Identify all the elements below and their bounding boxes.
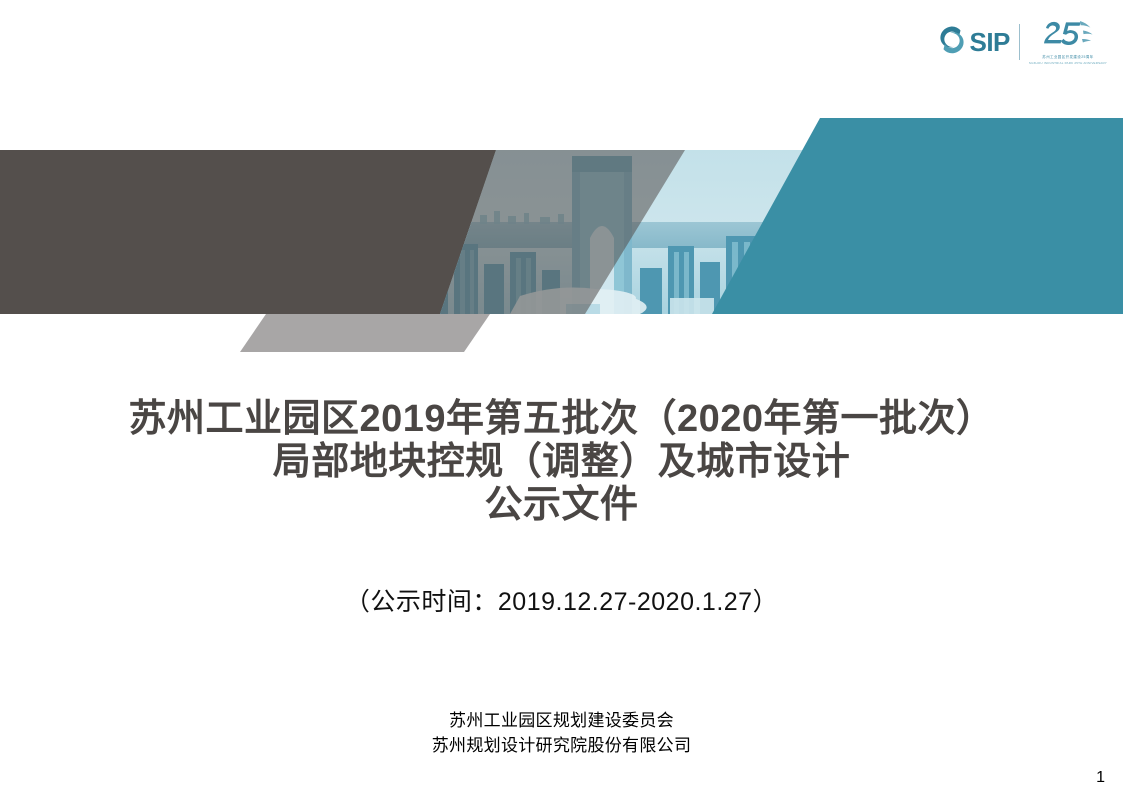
footer-line-1: 苏州工业园区规划建设委员会 [0, 708, 1123, 733]
page-number: 1 [1096, 769, 1105, 787]
publicity-period-subtitle: （公示时间：2019.12.27-2020.1.27） [0, 582, 1123, 618]
footer-line-2: 苏州规划设计研究院股份有限公司 [0, 733, 1123, 758]
title-line-1: 苏州工业园区2019年第五批次（2020年第一批次） [0, 398, 1123, 441]
title-line-2: 局部地块控规（调整）及城市设计 [0, 441, 1123, 484]
footer-attribution: 苏州工业园区规划建设委员会 苏州规划设计研究院股份有限公司 [0, 708, 1123, 758]
banner-graphic [0, 0, 1123, 360]
title-line-3: 公示文件 [0, 484, 1123, 527]
banner-light-grey-parallelogram [240, 314, 490, 352]
page-title: 苏州工业园区2019年第五批次（2020年第一批次） 局部地块控规（调整）及城市… [0, 398, 1123, 527]
